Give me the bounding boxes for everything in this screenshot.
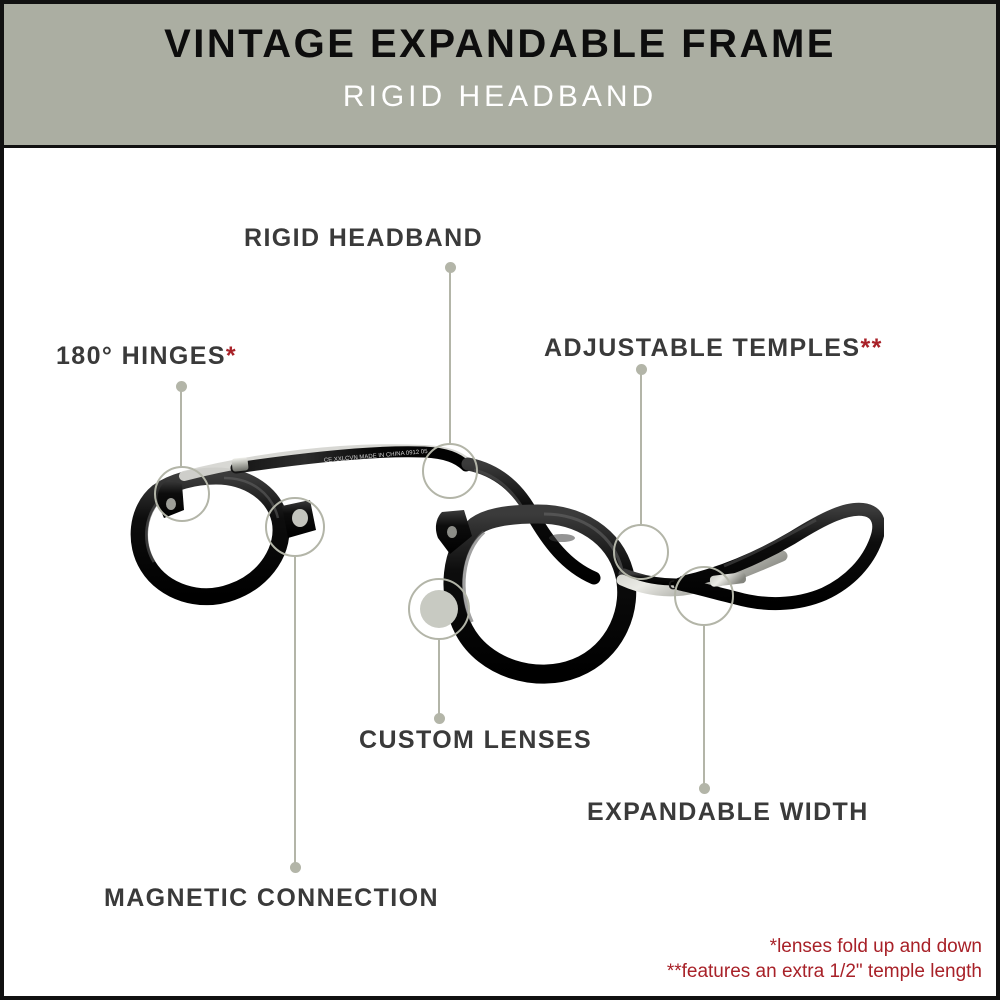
leader-dot-expandable-width	[699, 783, 710, 794]
callout-label-expandable-width: EXPANDABLE WIDTH	[587, 798, 869, 827]
callout-text-hinges: 180° HINGES	[56, 342, 226, 370]
callout-label-custom-lenses: CUSTOM LENSES	[359, 726, 592, 755]
callout-label-hinges: 180° HINGES*	[56, 342, 237, 371]
page-subtitle: RIGID HEADBAND	[4, 80, 996, 114]
footnote-double-asterisk: **features an extra 1/2" temple length	[667, 960, 982, 984]
leader-ring-adjustable-temples	[613, 524, 669, 580]
leader-ring-rigid-headband	[422, 443, 478, 499]
leader-dot-magnetic-connection	[290, 862, 301, 873]
footnote-single-asterisk: *lenses fold up and down	[667, 935, 982, 959]
callout-text-expandable-width: EXPANDABLE WIDTH	[587, 798, 869, 826]
callout-label-magnetic-connection: MAGNETIC CONNECTION	[104, 884, 439, 913]
callout-text-magnetic-connection: MAGNETIC CONNECTION	[104, 884, 439, 912]
leader-line-adjustable-temples	[640, 369, 642, 526]
callout-text-adjustable-temples: ADJUSTABLE TEMPLES	[544, 334, 860, 362]
footnotes: *lenses fold up and down **features an e…	[667, 935, 982, 984]
callout-label-adjustable-temples: ADJUSTABLE TEMPLES**	[544, 334, 883, 363]
leader-line-magnetic-connection	[294, 557, 296, 865]
infographic-poster: VINTAGE EXPANDABLE FRAME RIGID HEADBAND	[0, 0, 1000, 1000]
callout-label-rigid-headband: RIGID HEADBAND	[244, 224, 483, 253]
leader-ring-hinges	[154, 466, 210, 522]
leader-dot-custom-lenses	[434, 713, 445, 724]
leader-line-expandable-width	[703, 626, 705, 786]
callout-text-custom-lenses: CUSTOM LENSES	[359, 726, 592, 754]
product-photo: CE XXLCVN MADE IN CHINA 0912 05	[124, 414, 884, 714]
callout-text-rigid-headband: RIGID HEADBAND	[244, 224, 483, 252]
lens-fill-disc	[420, 590, 458, 628]
leader-ring-magnetic-connection	[265, 497, 325, 557]
leader-line-custom-lenses	[438, 640, 440, 716]
leader-ring-expandable-width	[674, 566, 734, 626]
callout-asterisk-adjustable-temples: **	[860, 334, 882, 362]
callout-asterisk-hinges: *	[226, 342, 237, 370]
page-title: VINTAGE EXPANDABLE FRAME	[4, 22, 996, 67]
leader-line-rigid-headband	[449, 267, 451, 444]
header-banner: VINTAGE EXPANDABLE FRAME RIGID HEADBAND	[4, 4, 996, 148]
leader-line-hinges	[180, 386, 182, 467]
